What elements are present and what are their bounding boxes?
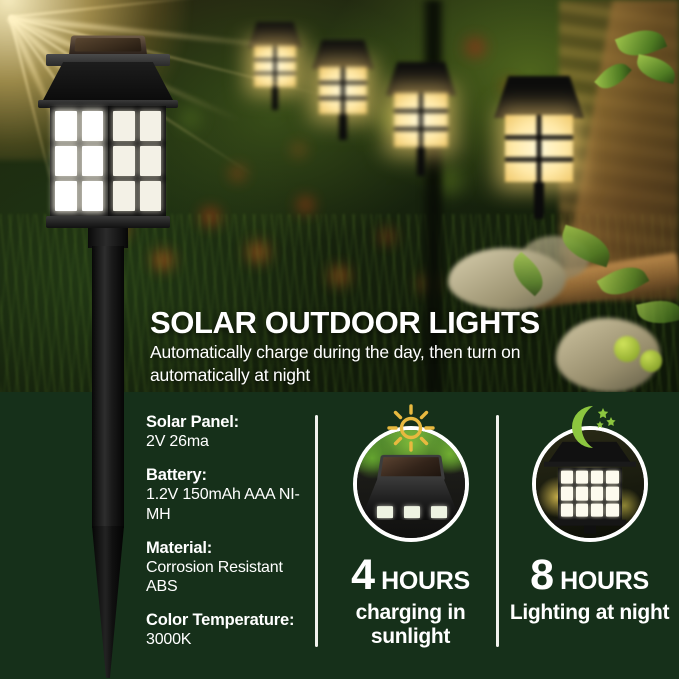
specification-list: Solar Panel: 2V 26ma Battery: 1.2V 150mA… — [146, 412, 311, 664]
glass-pane — [140, 146, 162, 176]
glass-pane — [576, 471, 588, 484]
spec-item-material: Material: Corrosion Resistant ABS — [146, 538, 311, 597]
glass-pane — [576, 503, 588, 516]
lantern-base — [46, 216, 170, 228]
spec-value: 3000K — [146, 630, 311, 649]
lantern-roof — [42, 62, 174, 102]
lantern-grid — [394, 93, 447, 147]
glass-pane — [606, 503, 618, 516]
lantern-grid — [505, 115, 573, 182]
glass-pane — [55, 111, 77, 141]
glass-pane — [591, 471, 603, 484]
sun-icon — [381, 402, 441, 454]
background-lantern — [312, 40, 374, 138]
glass-pane — [404, 506, 420, 518]
hours-number: 8 — [530, 554, 553, 597]
glass-pane — [561, 503, 573, 516]
lantern-post — [584, 526, 596, 534]
spec-value: 1.2V 150mAh AAA NI-MH — [146, 485, 311, 523]
spec-label: Battery: — [146, 465, 311, 485]
lantern-post — [534, 182, 545, 218]
lantern-roof — [386, 62, 456, 96]
glass-pane — [591, 487, 603, 500]
vertical-divider — [315, 415, 318, 647]
page-title: SOLAR OUTDOOR LIGHTS — [150, 305, 540, 341]
spec-item-solar-panel: Solar Panel: 2V 26ma — [146, 412, 311, 451]
lantern-eave — [544, 462, 636, 467]
spec-value: 2V 26ma — [146, 432, 311, 451]
spec-value: Corrosion Resistant ABS — [146, 558, 311, 596]
spec-label: Material: — [146, 538, 311, 558]
lantern-body — [50, 106, 166, 216]
hours-row: 8 HOURS — [502, 554, 677, 597]
hours-number: 4 — [351, 554, 374, 597]
glass-pane — [377, 506, 393, 518]
hours-unit: HOURS — [560, 567, 649, 596]
glass-pane — [113, 181, 135, 211]
rock — [448, 248, 566, 310]
lantern-post — [92, 246, 124, 528]
glass-pane — [576, 487, 588, 500]
hours-row: 4 HOURS — [323, 554, 498, 597]
feature-lighting: 8 HOURS Lighting at night — [502, 402, 677, 625]
glass-pane — [431, 506, 447, 518]
feature-charging: 4 HOURS charging in sunlight — [323, 402, 498, 649]
hours-unit: HOURS — [381, 567, 470, 596]
lantern-neck — [88, 228, 128, 248]
glass-pane — [591, 503, 603, 516]
glass-pane — [140, 181, 162, 211]
glass-pane — [82, 181, 104, 211]
glass-pane — [606, 487, 618, 500]
lantern-body — [558, 468, 622, 520]
background-lantern — [248, 22, 302, 108]
berry — [640, 350, 662, 372]
glass-pane — [82, 111, 104, 141]
background-lantern — [494, 76, 584, 216]
feature-description: Lighting at night — [502, 601, 677, 625]
lantern-roof — [494, 76, 584, 118]
background-lantern — [386, 62, 456, 174]
lantern-post — [417, 147, 425, 176]
ground-stake — [92, 526, 124, 678]
glass-pane — [113, 111, 135, 141]
solar-panel-closeup — [359, 452, 463, 528]
feature-description: charging in sunlight — [323, 601, 498, 649]
lit-lantern-closeup — [544, 442, 636, 534]
lantern-roof-closeup — [361, 476, 461, 520]
glass-pane — [82, 146, 104, 176]
glass-pane — [561, 487, 573, 500]
moon-stars-icon — [559, 400, 621, 454]
lantern-face-left — [50, 106, 108, 216]
glass-pane — [55, 146, 77, 176]
lantern-post — [339, 114, 346, 139]
glass-pane — [55, 181, 77, 211]
glass-pane — [561, 471, 573, 484]
glass-pane — [606, 471, 618, 484]
spec-item-color-temperature: Color Temperature: 3000K — [146, 610, 311, 649]
berry — [614, 336, 640, 362]
lantern-roof — [312, 40, 374, 69]
lantern-post — [272, 87, 278, 109]
lantern-grid — [319, 67, 366, 114]
page-subtitle: Automatically charge during the day, the… — [150, 341, 550, 387]
spec-item-battery: Battery: 1.2V 150mAh AAA NI-MH — [146, 465, 311, 524]
spec-label: Color Temperature: — [146, 610, 311, 630]
lantern-face-right — [108, 106, 166, 216]
spec-label: Solar Panel: — [146, 412, 311, 432]
glass-pane — [113, 146, 135, 176]
glass-pane — [140, 111, 162, 141]
product-infographic: SOLAR OUTDOOR LIGHTS Automatically charg… — [0, 0, 679, 679]
